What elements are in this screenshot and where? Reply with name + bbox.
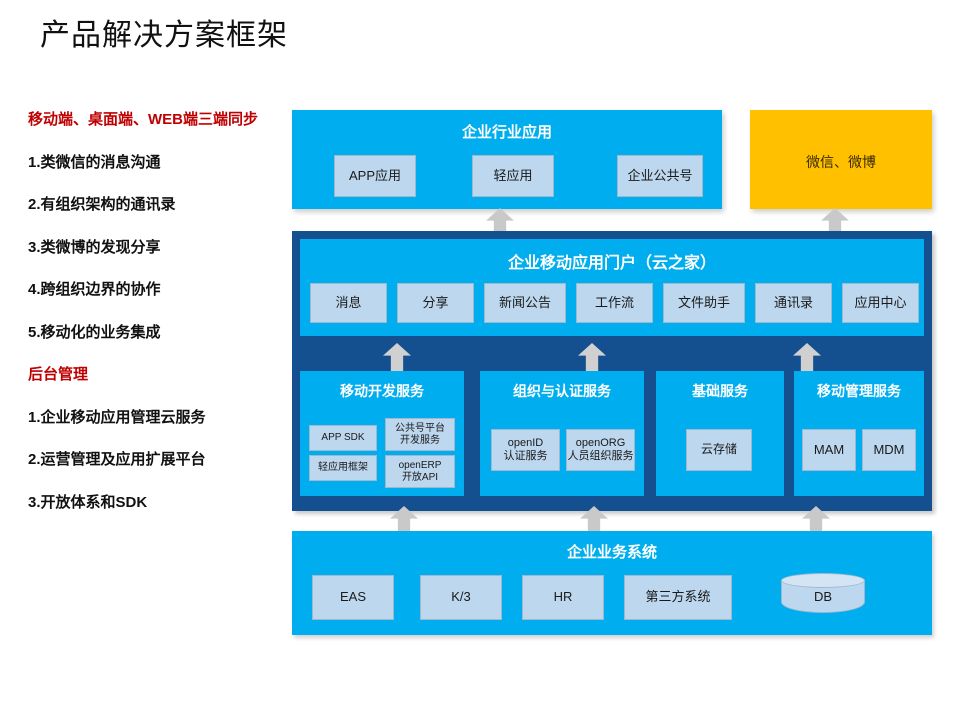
service-panel-basic: 基础服务 云存储 [656,371,784,496]
note-line-3: 3.类微博的发现分享 [28,240,290,257]
industry-apps-panel: 企业行业应用 APP应用 轻应用 企业公共号 [292,110,722,209]
chip-portal-messages[interactable]: 消息 [310,283,387,323]
chip-openid-auth[interactable]: openID 认证服务 [491,429,560,471]
service-title-basic: 基础服务 [656,381,784,401]
note-line-2: 2.有组织架构的通讯录 [28,197,290,214]
chip-portal-contacts[interactable]: 通讯录 [755,283,832,323]
chip-light-application[interactable]: 轻应用 [472,155,554,197]
portal-panel: 企业移动应用门户（云之家） 消息 分享 新闻公告 工作流 文件助手 通讯录 应用… [300,239,924,336]
chip-cloud-storage[interactable]: 云存储 [686,429,752,471]
industry-apps-title: 企业行业应用 [292,121,722,142]
chip-eas[interactable]: EAS [312,575,394,620]
chip-portal-news[interactable]: 新闻公告 [484,283,566,323]
chip-public-account-platform[interactable]: 公共号平台 开发服务 [385,418,455,451]
note-line-6: 后台管理 [28,367,290,384]
social-panel: 微信、微博 [750,110,932,209]
database-cylinder-icon[interactable]: DB [781,573,865,617]
note-line-5: 5.移动化的业务集成 [28,325,290,342]
chip-hr[interactable]: HR [522,575,604,620]
slide-canvas: 产品解决方案框架 移动端、桌面端、WEB端三端同步 1.类微信的消息沟通 2.有… [0,0,960,720]
note-line-1: 1.类微信的消息沟通 [28,155,290,172]
note-line-7: 1.企业移动应用管理云服务 [28,410,290,427]
page-title: 产品解决方案框架 [40,10,288,54]
chip-app-sdk[interactable]: APP SDK [309,425,377,451]
chip-openorg-people[interactable]: openORG 人员组织服务 [566,429,635,471]
note-line-0: 移动端、桌面端、WEB端三端同步 [28,112,290,129]
service-title-org-auth: 组织与认证服务 [480,381,644,401]
chip-portal-file-helper[interactable]: 文件助手 [663,283,745,323]
note-line-4: 4.跨组织边界的协作 [28,282,290,299]
chip-openerp-open-api[interactable]: openERP 开放API [385,455,455,488]
database-top-ellipse [781,573,865,588]
chip-portal-workflow[interactable]: 工作流 [576,283,653,323]
chip-mam[interactable]: MAM [802,429,856,471]
chip-portal-share[interactable]: 分享 [397,283,474,323]
chip-enterprise-public-account[interactable]: 企业公共号 [617,155,703,197]
service-title-mobile-development: 移动开发服务 [300,381,464,401]
chip-light-app-framework[interactable]: 轻应用框架 [309,455,377,481]
chip-k3[interactable]: K/3 [420,575,502,620]
portal-title: 企业移动应用门户（云之家） [300,249,924,273]
chip-third-party[interactable]: 第三方系统 [624,575,732,620]
social-label: 微信、微博 [750,152,932,172]
note-line-8: 2.运营管理及应用扩展平台 [28,452,290,469]
service-panel-mobile-management: 移动管理服务 MAM MDM [794,371,924,496]
business-systems-title: 企业业务系统 [292,541,932,562]
chip-portal-app-center[interactable]: 应用中心 [842,283,919,323]
service-panel-org-auth: 组织与认证服务 openID 认证服务 openORG 人员组织服务 [480,371,644,496]
chip-mdm[interactable]: MDM [862,429,916,471]
note-line-9: 3.开放体系和SDK [28,495,290,512]
notes-column: 移动端、桌面端、WEB端三端同步 1.类微信的消息沟通 2.有组织架构的通讯录 … [28,112,290,537]
database-label: DB [781,589,865,604]
service-title-mobile-management: 移动管理服务 [794,381,924,401]
chip-app-application[interactable]: APP应用 [334,155,416,197]
service-panel-mobile-development: 移动开发服务 APP SDK 公共号平台 开发服务 轻应用框架 openERP … [300,371,464,496]
